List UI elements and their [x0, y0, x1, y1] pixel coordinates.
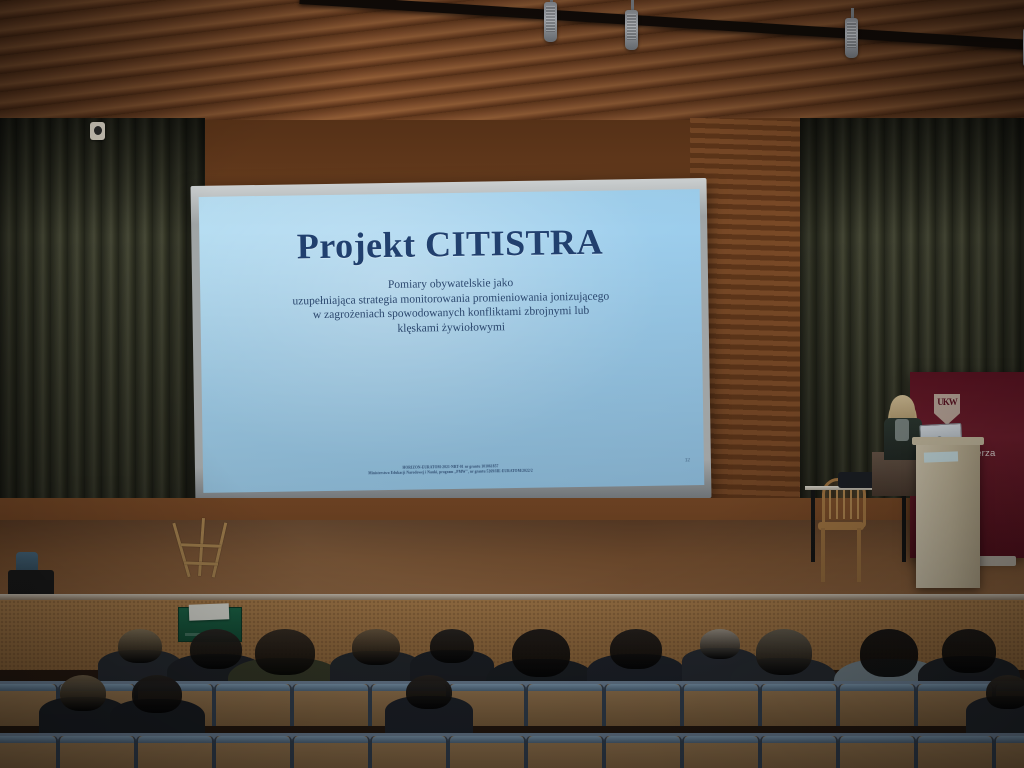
table-leg — [902, 490, 906, 562]
university-crest-icon: UKW — [934, 394, 960, 425]
chair-leg — [821, 528, 825, 582]
lectern-top — [912, 437, 984, 445]
audience-member-head — [512, 629, 570, 677]
auditorium-seat — [760, 736, 838, 768]
audience-member-head — [610, 629, 662, 669]
slide-page-number: 12 — [685, 458, 690, 463]
auditorium-seat — [292, 684, 370, 726]
audience-member-head — [942, 629, 996, 673]
auditorium-seat — [526, 736, 604, 768]
projection-screen: Projekt CITISTRA Pomiary obywatelskie ja… — [191, 178, 712, 506]
slide-surface: Projekt CITISTRA Pomiary obywatelskie ja… — [199, 189, 705, 493]
auditorium-seat — [448, 736, 526, 768]
audience-member-head — [132, 675, 182, 713]
seat-row-front — [0, 733, 1024, 768]
auditorium-seat — [214, 736, 292, 768]
wooden-easel — [176, 518, 232, 578]
auditorium-seat — [682, 684, 760, 726]
auditorium-seat — [838, 684, 916, 726]
audience-member-head — [986, 675, 1024, 709]
auditorium-seat — [292, 736, 370, 768]
ceiling-spotlight-icon — [544, 2, 557, 42]
slide-subtitle: Pomiary obywatelskie jako uzupełniająca … — [200, 273, 702, 339]
banner-logo-label: UKW — [934, 397, 960, 407]
auditorium-seat — [994, 736, 1024, 768]
lectern-notes — [924, 451, 958, 462]
auditorium-seat — [214, 684, 292, 726]
auditorium-seat — [604, 684, 682, 726]
auditorium-seat — [526, 684, 604, 726]
ceiling-spotlight-icon — [625, 10, 638, 50]
audience-member-head — [860, 629, 918, 677]
audience-area — [0, 615, 1024, 768]
auditorium-seat — [916, 736, 994, 768]
audience-member-head — [756, 629, 812, 675]
audience-member-head — [406, 675, 452, 709]
audience-member-head — [700, 629, 740, 659]
wall-speaker-icon — [90, 122, 105, 140]
lectern — [916, 443, 980, 588]
ceiling-spotlight-icon — [845, 18, 858, 58]
auditorium-seat — [58, 736, 136, 768]
slide-title: Projekt CITISTRA — [199, 219, 701, 269]
audience-member-head — [255, 629, 315, 675]
chair-leg — [857, 528, 861, 582]
auditorium-seat — [136, 736, 214, 768]
presenter-shirt — [895, 419, 909, 441]
auditorium-seat — [0, 736, 58, 768]
auditorium-seat — [760, 684, 838, 726]
auditorium-seat — [370, 736, 448, 768]
audience-member-head — [190, 629, 242, 669]
auditorium-photo: Projekt CITISTRA Pomiary obywatelskie ja… — [0, 0, 1024, 768]
audience-member-head — [60, 675, 106, 711]
audience-member-head — [352, 629, 400, 665]
auditorium-seat — [604, 736, 682, 768]
audience-member-head — [118, 629, 162, 663]
audience-member-head — [430, 629, 474, 663]
wooden-chair — [818, 478, 864, 582]
table-leg — [811, 490, 815, 562]
slide-funding-footer: HORIZON-EURATOM-2021-NRT-01 nr grantu 10… — [243, 461, 658, 478]
auditorium-seat — [838, 736, 916, 768]
auditorium-seat — [682, 736, 760, 768]
